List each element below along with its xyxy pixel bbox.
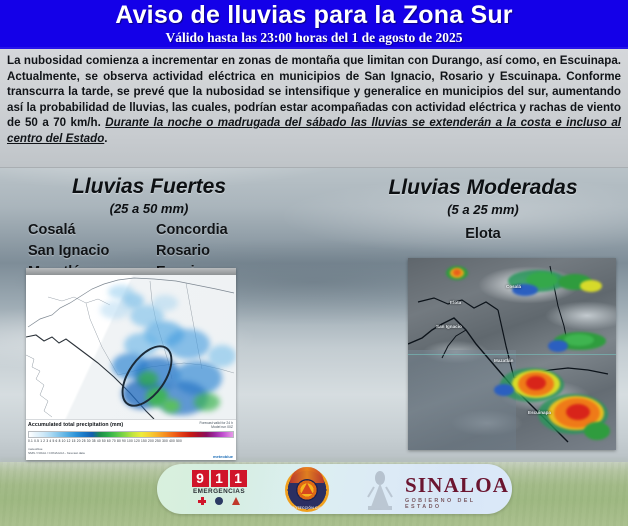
convective-cell bbox=[584, 422, 610, 440]
precip-blob bbox=[208, 345, 236, 367]
alert-text-end: . bbox=[104, 132, 107, 145]
list-item: Elota bbox=[352, 226, 614, 242]
precip-blob bbox=[166, 329, 210, 359]
legend-footnote-line2: SMN / NOAA / CONAGUA - forecast data bbox=[28, 451, 85, 455]
map-label: Escuinapa bbox=[528, 410, 551, 415]
map-label: Cosalá bbox=[506, 284, 521, 289]
satellite-radar-map: Cosalá Elota San Ignacio Mazatlán Escuin… bbox=[408, 258, 616, 450]
fire-icon bbox=[232, 497, 240, 505]
legend-tick-labels: 0.1 0.5 1 2 3 4 5 6 8 10 12 15 20 25 30 … bbox=[28, 439, 234, 445]
convective-cell bbox=[453, 269, 461, 276]
precip-blob bbox=[194, 393, 220, 411]
latitude-line bbox=[408, 354, 616, 355]
convective-cell bbox=[526, 376, 546, 390]
emergency-label: EMERGENCIAS bbox=[185, 488, 253, 495]
precip-blob bbox=[162, 399, 180, 413]
section-left-title: Lluvias Fuertes bbox=[14, 175, 284, 199]
legend-color-scale bbox=[28, 431, 234, 438]
digit: 1 bbox=[211, 470, 228, 487]
sinaloa-emblem-icon bbox=[362, 469, 398, 511]
precip-blob bbox=[100, 301, 130, 319]
911-digits: 9 1 1 bbox=[185, 470, 253, 487]
map-label: Elota bbox=[450, 300, 461, 305]
legend-title: Accumulated total precipitation (mm) bbox=[28, 422, 123, 428]
map-left-header-strip bbox=[26, 268, 236, 275]
list-item: Concordia bbox=[156, 222, 288, 238]
map-label: Mazatlán bbox=[494, 358, 513, 363]
government-name: SINALOA bbox=[405, 475, 512, 496]
convective-cell bbox=[564, 334, 594, 346]
map-left-legend: Accumulated total precipitation (mm) For… bbox=[26, 419, 236, 460]
map-label: San Ignacio bbox=[436, 324, 462, 329]
section-left-range: (25 a 50 mm) bbox=[14, 201, 284, 216]
validity-subtitle: Válido hasta las 23:00 horas del 1 de ag… bbox=[0, 30, 628, 46]
header-banner: Aviso de lluvias para la Zona Sur Válido… bbox=[0, 0, 628, 49]
government-subtitle: GOBIERNO DEL ESTADO bbox=[405, 498, 512, 510]
seal-text: PROTECCIÓN CIVIL bbox=[285, 506, 329, 510]
list-item: Cosalá bbox=[28, 222, 156, 238]
section-right-range: (5 a 25 mm) bbox=[352, 202, 614, 217]
footer-logo-bar: 9 1 1 EMERGENCIAS PROTECCIÓN CIVIL bbox=[157, 464, 512, 514]
digit: 1 bbox=[230, 470, 247, 487]
legend-meta: Forecast valid for 24 h Model run 00Z bbox=[199, 421, 233, 430]
sinaloa-wordmark: SINALOA GOBIERNO DEL ESTADO bbox=[405, 475, 512, 510]
civil-protection-seal-icon: PROTECCIÓN CIVIL bbox=[285, 468, 329, 512]
section-lluvias-fuertes: Lluvias Fuertes (25 a 50 mm) Cosalá Conc… bbox=[14, 175, 284, 280]
legend-meta-line2: Model run 00Z bbox=[199, 425, 233, 429]
emergency-911-logo: 9 1 1 EMERGENCIAS bbox=[185, 470, 253, 510]
legend-footnote: meteoblue SMN / NOAA / CONAGUA - forecas… bbox=[28, 447, 85, 455]
meteoblue-brand: meteoblue bbox=[213, 454, 233, 459]
list-item: San Ignacio bbox=[28, 243, 156, 259]
precip-blob bbox=[152, 295, 178, 311]
page-title: Aviso de lluvias para la Zona Sur bbox=[0, 1, 628, 30]
alert-text-block: La nubosidad comienza a incrementar en z… bbox=[0, 49, 628, 168]
convective-cell bbox=[580, 280, 602, 292]
police-phone-icon bbox=[215, 497, 223, 505]
convective-cell bbox=[494, 384, 514, 396]
map-left-canvas bbox=[26, 275, 236, 419]
convective-cell bbox=[548, 340, 568, 352]
weather-alert-poster: Aviso de lluvias para la Zona Sur Válido… bbox=[0, 0, 628, 526]
section-lluvias-moderadas: Lluvias Moderadas (5 a 25 mm) Elota bbox=[352, 176, 614, 242]
medical-cross-icon bbox=[198, 497, 206, 505]
precipitation-forecast-map: Accumulated total precipitation (mm) For… bbox=[26, 268, 236, 460]
convective-cell bbox=[566, 404, 590, 420]
digit: 9 bbox=[192, 470, 209, 487]
list-item: Rosario bbox=[156, 243, 288, 259]
section-right-title: Lluvias Moderadas bbox=[352, 176, 614, 200]
alert-paragraph: La nubosidad comienza a incrementar en z… bbox=[7, 53, 621, 147]
emergency-service-icons bbox=[185, 497, 253, 505]
